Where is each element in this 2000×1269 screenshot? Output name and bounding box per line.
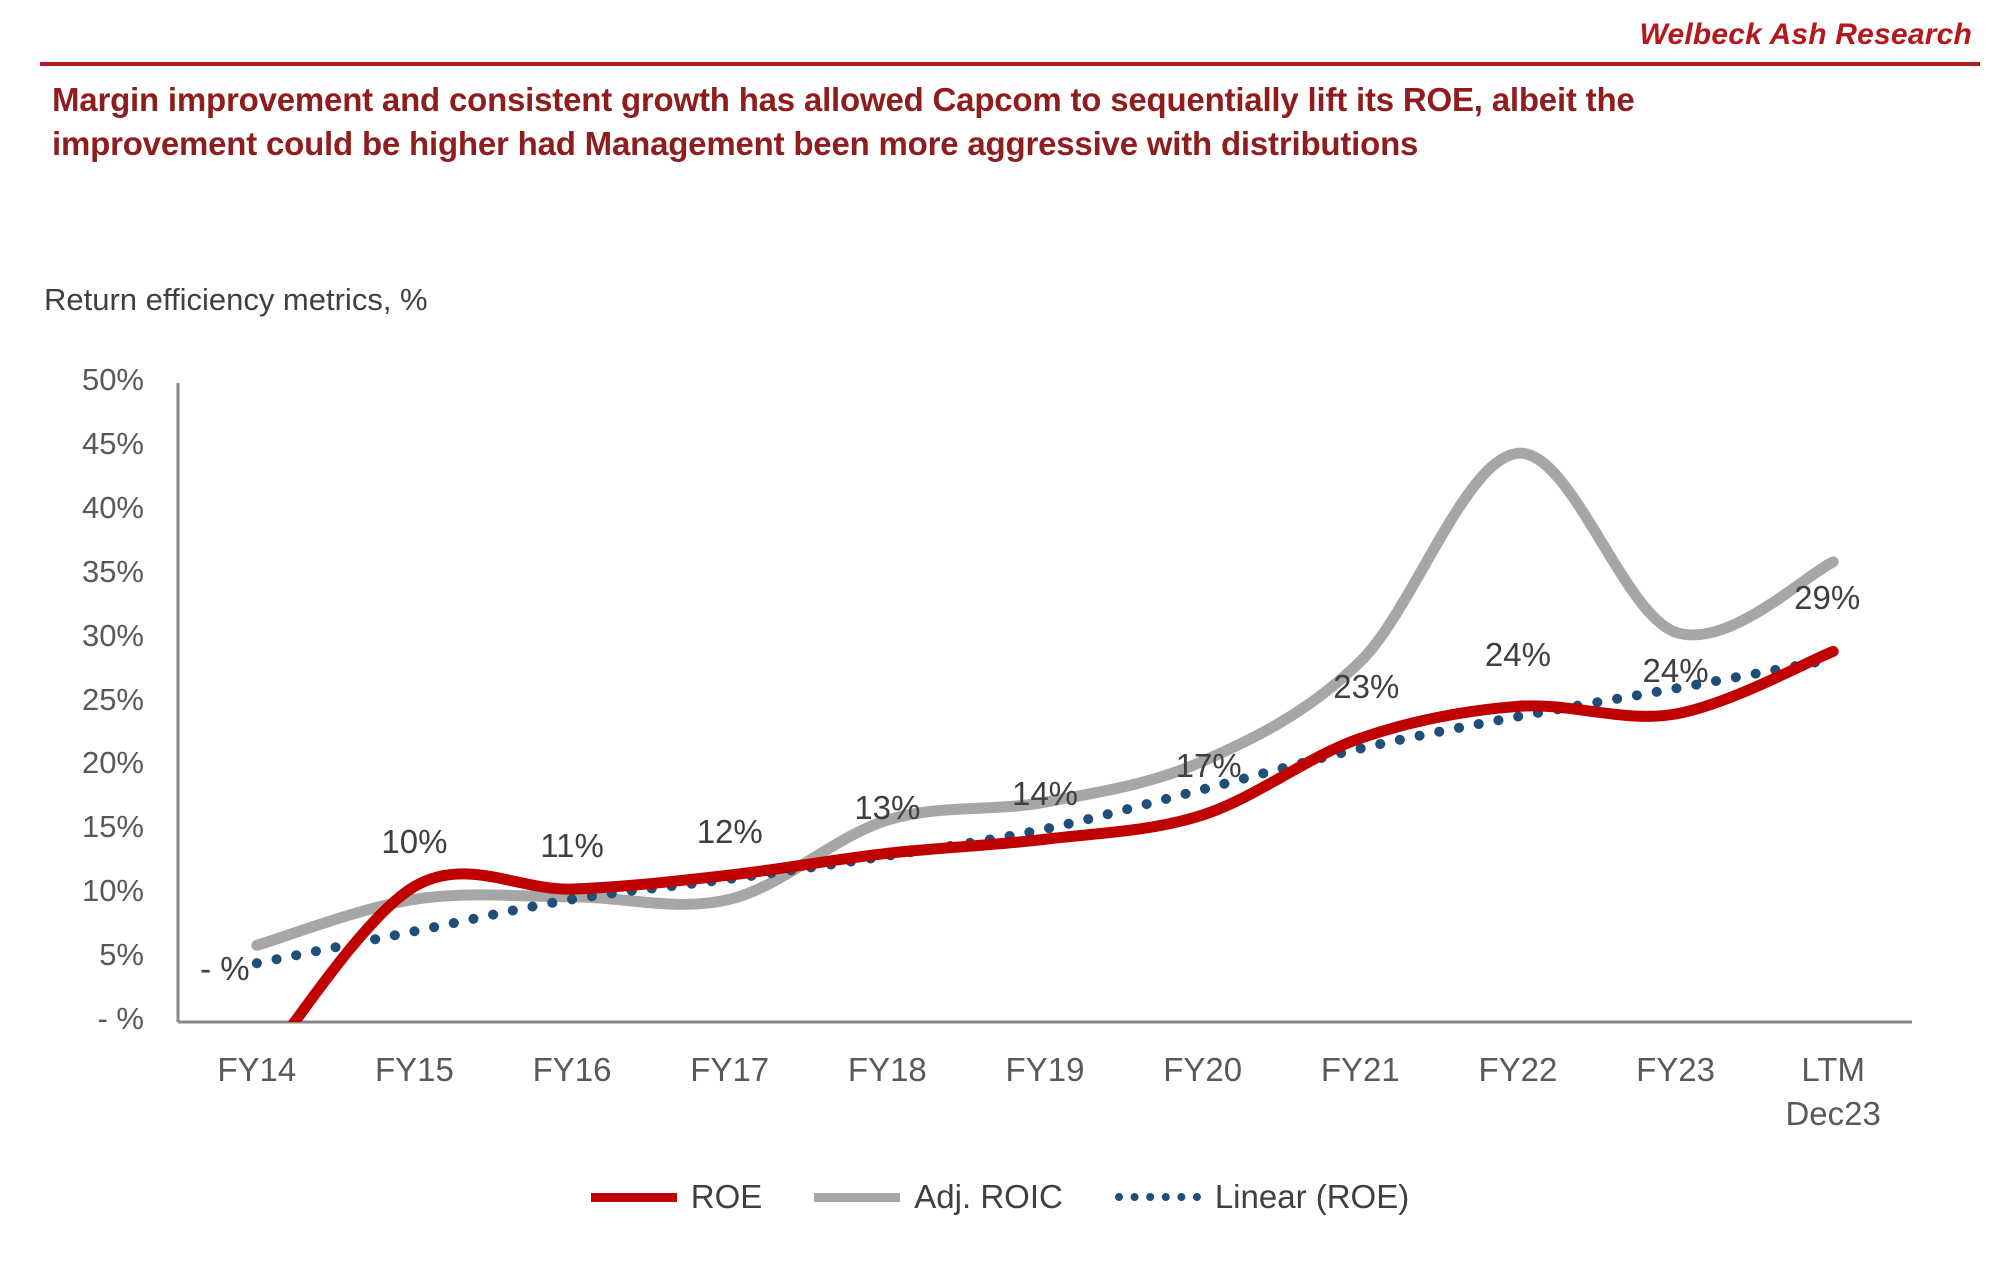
x-axis-tick-label: FY17	[651, 1048, 809, 1092]
y-axis-tick-label: 5%	[14, 937, 144, 973]
data-label: 23%	[1306, 668, 1426, 706]
x-axis-tick-label: FY21	[1281, 1048, 1439, 1092]
legend-label: ROE	[691, 1178, 763, 1216]
y-axis-tick-label: 10%	[14, 873, 144, 909]
y-axis-tick-label: 45%	[14, 426, 144, 462]
x-axis-tick-label: FY15	[336, 1048, 494, 1092]
legend-label: Adj. ROIC	[914, 1178, 1063, 1216]
x-axis-tick-label: FY23	[1597, 1048, 1755, 1092]
legend-item-linear-roe[interactable]: Linear (ROE)	[1115, 1178, 1409, 1216]
data-label: 11%	[512, 827, 632, 865]
x-axis-tick-label: FY14	[178, 1048, 336, 1092]
data-label: 12%	[670, 813, 790, 851]
x-axis-tick-label: FY16	[493, 1048, 651, 1092]
x-axis-tick-label: FY20	[1124, 1048, 1282, 1092]
x-axis-tick-label: FY19	[966, 1048, 1124, 1092]
data-label: 24%	[1458, 636, 1578, 674]
legend-swatch-icon	[1115, 1193, 1201, 1201]
y-axis-tick-label: 40%	[14, 490, 144, 526]
y-axis-tick-label: - %	[14, 1001, 144, 1037]
x-axis-tick-label: FY18	[809, 1048, 967, 1092]
y-axis-tick-label: 15%	[14, 809, 144, 845]
y-axis-tick-label: 50%	[14, 362, 144, 398]
legend-item-roe[interactable]: ROE	[591, 1178, 763, 1216]
data-label: 24%	[1616, 652, 1736, 690]
y-axis-tick-label: 35%	[14, 554, 144, 590]
series-line-roe	[257, 651, 1833, 1073]
legend-item-adj-roic[interactable]: Adj. ROIC	[814, 1178, 1063, 1216]
y-axis-tick-label: 30%	[14, 618, 144, 654]
y-axis-tick-label: 25%	[14, 682, 144, 718]
x-axis-tick-label: FY22	[1439, 1048, 1597, 1092]
x-axis-tick-label: LTM Dec23	[1754, 1048, 1912, 1136]
legend-swatch-icon	[814, 1193, 900, 1202]
chart-legend: ROEAdj. ROICLinear (ROE)	[0, 1178, 2000, 1216]
legend-swatch-icon	[591, 1193, 677, 1202]
data-label: 17%	[1149, 747, 1269, 785]
legend-label: Linear (ROE)	[1215, 1178, 1409, 1216]
data-label: 13%	[827, 789, 947, 827]
y-axis-tick-label: 20%	[14, 745, 144, 781]
data-label: - %	[165, 950, 285, 988]
data-label: 14%	[985, 775, 1105, 813]
data-label: 10%	[354, 823, 474, 861]
data-label: 29%	[1767, 579, 1887, 617]
chart-page: Welbeck Ash Research Margin improvement …	[0, 0, 2000, 1269]
